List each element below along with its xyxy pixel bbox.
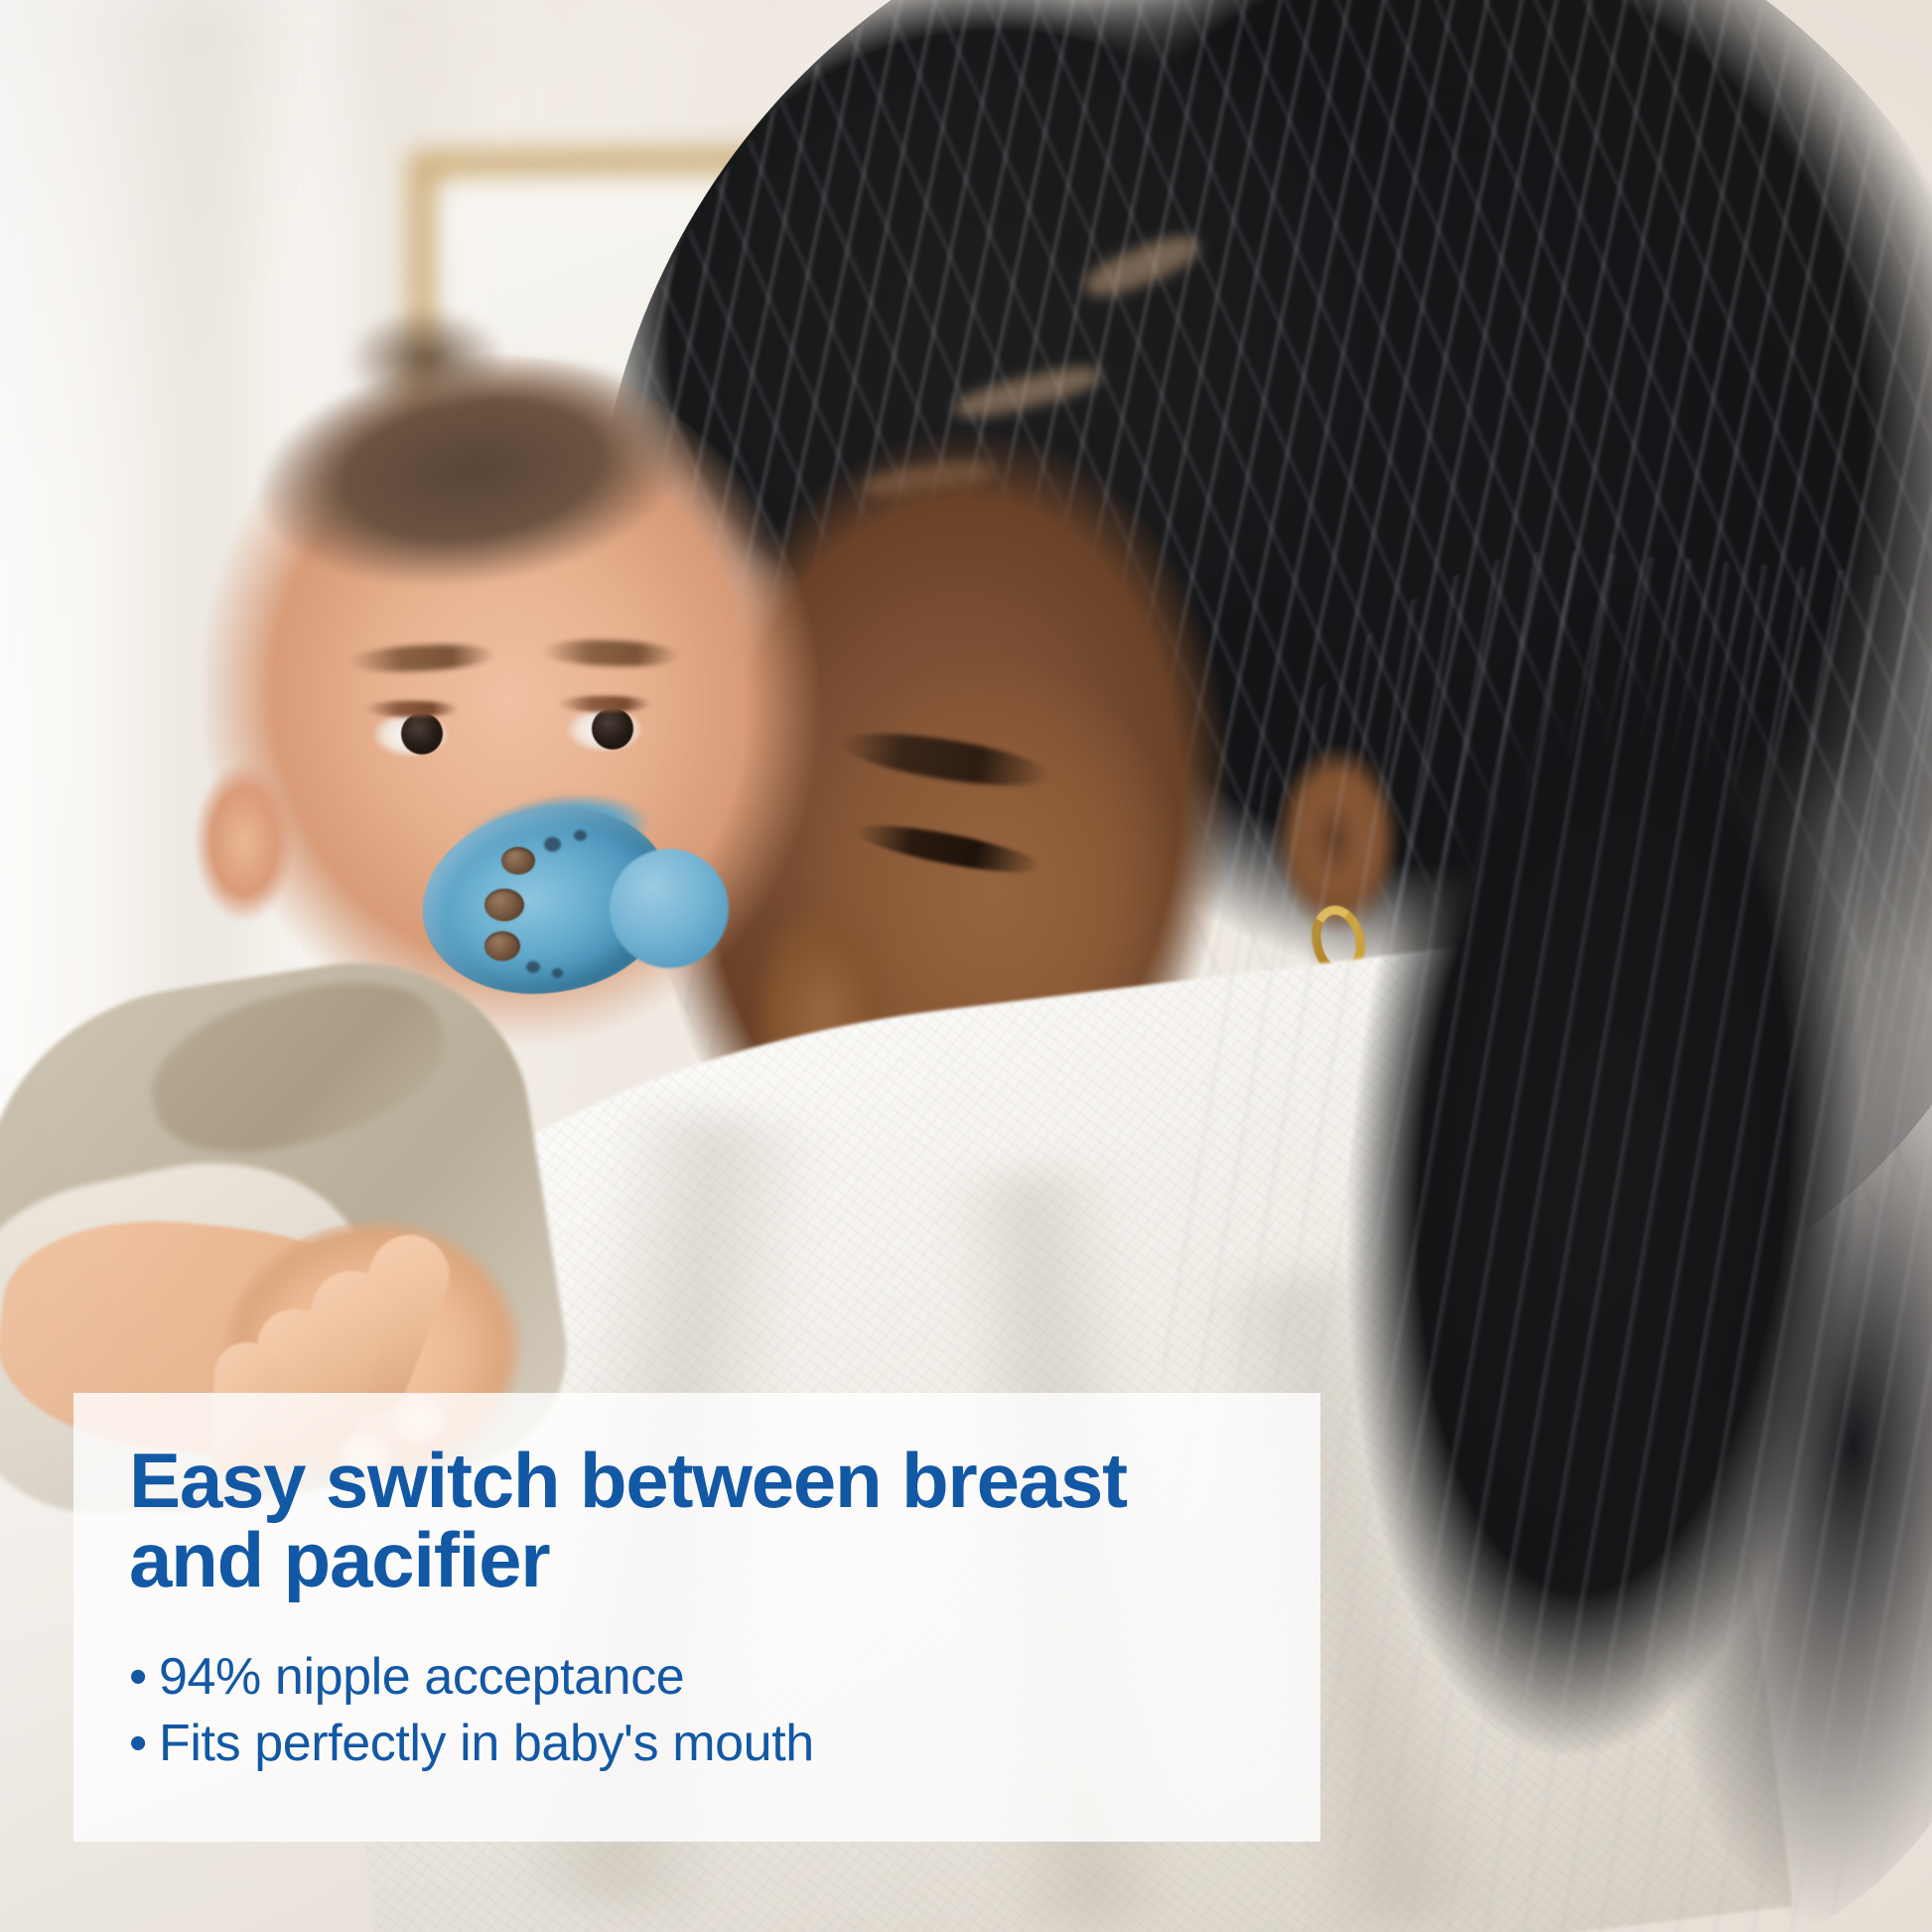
baby-hair-tuft: [328, 290, 526, 419]
pacifier-detail-dot: [574, 830, 587, 841]
text-overlay-panel: Easy switch between breast and pacifier …: [73, 1393, 1320, 1842]
pacifier-vent-hole: [501, 847, 535, 875]
headline: Easy switch between breast and pacifier: [129, 1441, 1265, 1600]
list-item: • 94% nipple acceptance: [129, 1644, 1265, 1712]
bullet-text: Fits perfectly in baby's mouth: [159, 1711, 814, 1778]
bullet-marker-icon: •: [129, 1644, 159, 1712]
baby-ear: [189, 755, 298, 928]
feature-bullet-list: • 94% nipple acceptance • Fits perfectly…: [129, 1644, 1265, 1778]
baby-eyelid-right: [557, 696, 652, 712]
list-item: • Fits perfectly in baby's mouth: [129, 1711, 1265, 1778]
baby-iris-left: [401, 713, 443, 755]
bullet-marker-icon: •: [129, 1711, 159, 1778]
image-canvas: Easy switch between breast and pacifier …: [0, 0, 1932, 1932]
pacifier-knob: [610, 849, 729, 968]
pacifier-detail-dot: [544, 837, 561, 852]
baby-eyelid-left: [363, 701, 459, 717]
pacifier-detail-dot: [552, 968, 563, 978]
pacifier-detail-dot: [526, 961, 540, 973]
bullet-text: 94% nipple acceptance: [159, 1644, 684, 1712]
baby-iris-right: [592, 708, 633, 750]
pacifier-vent-hole: [484, 889, 524, 921]
pacifier-vent-hole: [484, 931, 520, 961]
